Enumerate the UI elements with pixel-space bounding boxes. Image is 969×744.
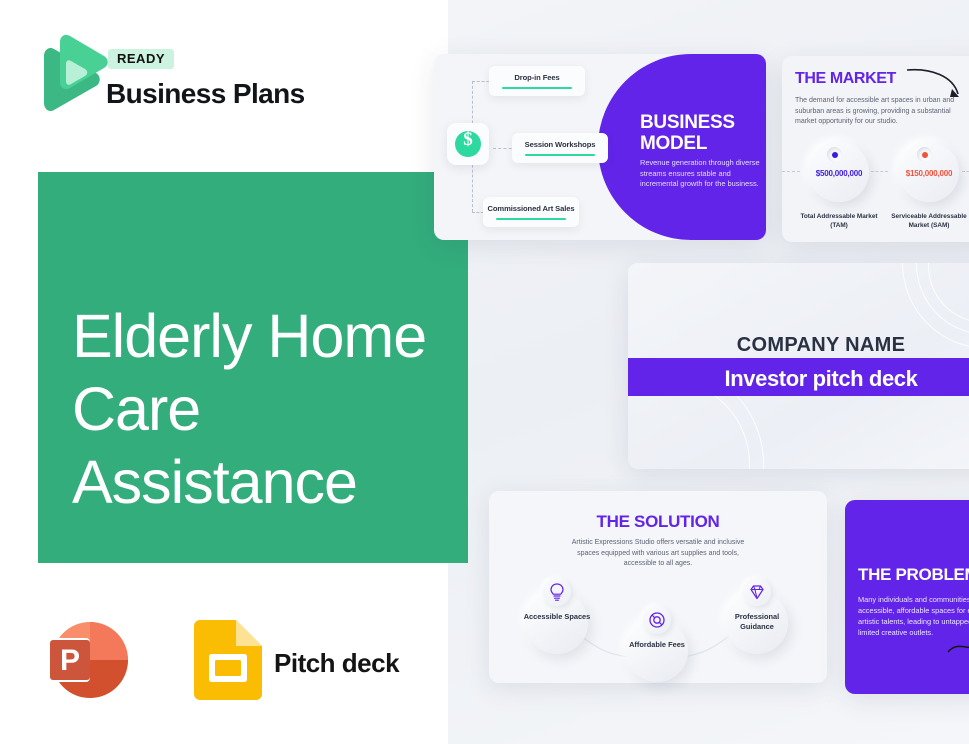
node-label: Professional Guidance — [718, 612, 796, 632]
solution-title: THE SOLUTION — [489, 512, 827, 532]
brand-logo[interactable]: READY Business Plans — [38, 34, 338, 126]
ready-badge: READY — [108, 49, 174, 69]
squiggle-decoration-icon — [946, 636, 969, 658]
node-label: Accessible Spaces — [518, 612, 596, 622]
metric-value: $500,000,000 — [800, 169, 878, 178]
company-subtitle: Investor pitch deck — [628, 366, 969, 392]
lightbulb-icon — [543, 578, 571, 606]
svg-text:P: P — [60, 644, 80, 677]
target-circle-icon — [643, 606, 671, 634]
market-title: THE MARKET — [795, 70, 896, 88]
metric-dot-pad — [917, 147, 932, 162]
company-name-heading: COMPANY NAME — [628, 334, 969, 357]
market-dash-left — [782, 171, 800, 172]
hero-title-line-2: Care Assistance — [72, 373, 492, 519]
metric-dot-icon — [922, 152, 928, 158]
page-title: Elderly Home Care Assistance — [72, 300, 492, 519]
metric-value: $150,000,000 — [890, 169, 968, 178]
bm-item-underline — [525, 154, 594, 157]
format-icons-group: P Pitch deck — [42, 614, 442, 706]
bm-item-label: Session Workshops — [512, 140, 608, 149]
problem-description: Many individuals and communities lack ac… — [858, 594, 969, 638]
curved-arrow-icon — [905, 66, 963, 102]
metric-dot-icon — [832, 152, 838, 158]
metric-caption: Total Addressable Market (TAM) — [800, 212, 878, 230]
business-model-title: BUSINESS MODEL — [640, 112, 750, 154]
metric-dot-pad — [827, 147, 842, 162]
bm-item-drop-in-fees[interactable]: Drop-in Fees — [489, 66, 585, 96]
format-label: Pitch deck — [274, 648, 399, 679]
node-label: Affordable Fees — [618, 640, 696, 650]
bm-item-session-workshops[interactable]: Session Workshops — [512, 133, 608, 163]
diamond-icon — [743, 578, 771, 606]
bm-item-label: Commissioned Art Sales — [483, 204, 579, 213]
brand-name: Business Plans — [106, 78, 305, 110]
problem-title: THE PROBLEM — [858, 565, 969, 585]
google-slides-icon[interactable] — [194, 620, 262, 700]
bm-item-commissioned-art-sales[interactable]: Commissioned Art Sales — [483, 197, 579, 227]
bm-item-label: Drop-in Fees — [489, 73, 585, 82]
dollar-sign-icon: $ — [447, 123, 489, 165]
hero-title-line-1: Elderly Home — [72, 302, 426, 370]
solution-description: Artistic Expressions Studio offers versa… — [560, 538, 756, 570]
powerpoint-icon[interactable]: P — [42, 614, 134, 706]
bm-item-underline — [502, 87, 571, 90]
bm-item-underline — [496, 218, 565, 221]
screenshot-stage: READY Business Plans Elderly Home Care A… — [0, 0, 969, 744]
play-triangle-logo-icon — [38, 34, 110, 116]
metric-caption: Serviceable Addressable Market (SAM) — [890, 212, 968, 230]
business-model-description: Revenue generation through diverse strea… — [640, 158, 762, 190]
